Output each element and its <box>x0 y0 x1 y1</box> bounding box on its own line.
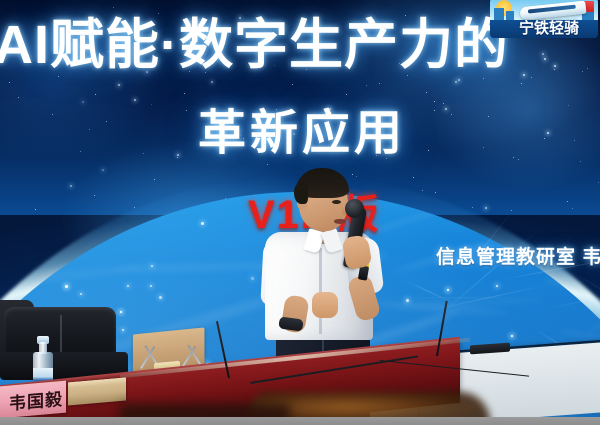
city-light <box>122 329 124 331</box>
slide-title-line-2: 革新应用 <box>198 108 406 160</box>
star <box>518 159 519 160</box>
star <box>451 114 452 115</box>
star <box>544 58 546 60</box>
logo-label: 宁铁轻骑 <box>502 17 596 38</box>
city-light <box>159 296 162 299</box>
speaker-sideburn <box>294 182 308 204</box>
speaker-eye <box>332 200 341 204</box>
star <box>554 65 556 67</box>
star <box>574 140 575 141</box>
city-light <box>151 265 153 267</box>
star <box>435 192 436 193</box>
star <box>587 68 588 69</box>
star <box>158 13 159 14</box>
star <box>211 81 213 83</box>
bottom-bar <box>0 417 600 425</box>
city-light <box>65 285 68 288</box>
star <box>428 150 429 151</box>
city-light <box>251 277 254 280</box>
star <box>52 114 53 115</box>
star <box>422 190 423 191</box>
star <box>292 84 293 85</box>
shirt-placket <box>319 248 322 334</box>
city-light <box>511 335 513 337</box>
star <box>567 201 568 202</box>
speaker-left-hand <box>312 292 338 318</box>
star <box>568 105 569 106</box>
star <box>554 69 555 70</box>
slide-title-line-1: AI赋能·数字生产力的 <box>0 16 509 74</box>
star <box>488 116 489 117</box>
presenter-credit: 信息管理教研室 韦国毅 <box>436 242 600 269</box>
nameplate-label: 韦国毅 <box>9 385 63 415</box>
speaker-mouth <box>334 219 346 224</box>
star <box>80 151 81 152</box>
city-light <box>82 217 84 219</box>
star <box>143 153 144 154</box>
city-light <box>496 285 498 287</box>
city-light <box>80 293 82 295</box>
star <box>542 53 544 55</box>
star <box>186 110 187 111</box>
city-light <box>127 285 129 287</box>
city-light <box>447 289 449 291</box>
city-light <box>53 251 55 253</box>
star <box>177 154 179 156</box>
star <box>9 82 10 83</box>
star <box>113 7 114 8</box>
city-light <box>150 285 152 287</box>
star <box>483 147 484 148</box>
star <box>483 78 484 79</box>
city-light <box>201 222 204 225</box>
star <box>356 176 357 177</box>
city-light <box>120 311 122 313</box>
event-logo: 宁铁轻骑 <box>490 0 598 40</box>
presentation-photo: AI赋能·数字生产力的 革新应用 V1.0版 信息管理教研室 韦国毅 宁铁轻骑 <box>0 0 600 425</box>
star <box>485 207 487 209</box>
star <box>580 161 581 162</box>
